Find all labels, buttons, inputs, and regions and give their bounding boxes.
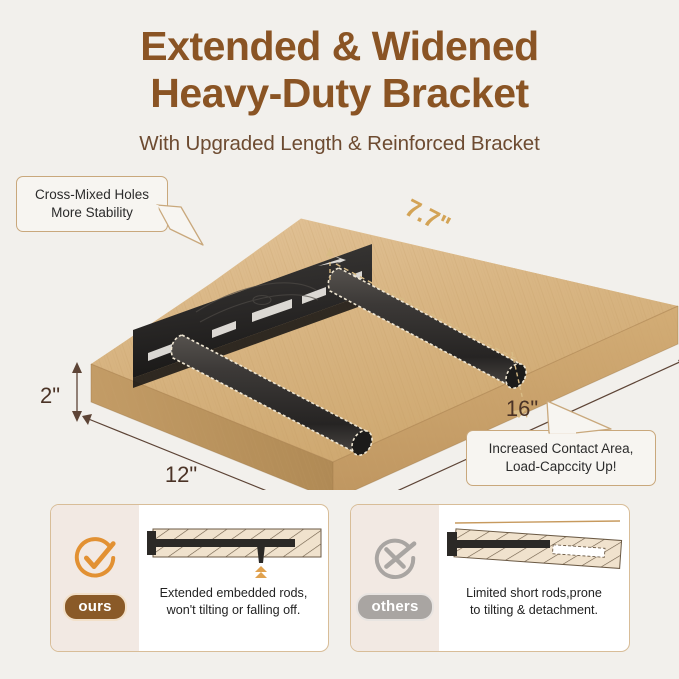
panel-others-caption: Limited short rods,prone to tilting & de… (460, 585, 608, 619)
callout-right-line1: Increased Contact Area, (477, 440, 645, 458)
callout-increased-contact-area: Increased Contact Area, Load-Capccity Up… (466, 430, 656, 486)
product-infographic: Extended & Widened Heavy-Duty Bracket Wi… (0, 0, 679, 679)
callout-left-line2: More Stability (27, 204, 157, 222)
comparison-panel-others: others (350, 504, 630, 652)
badge-ours: ours (63, 593, 126, 622)
comparison-section: ours (0, 498, 679, 663)
page-subtitle: With Upgraded Length & Reinforced Bracke… (0, 132, 679, 156)
dimension-rod-length-label: 7.7" (401, 194, 455, 240)
x-circle-icon (372, 535, 418, 581)
panel-ours-caption-line2: won't tilting or falling off. (160, 602, 308, 619)
panel-ours-caption: Extended embedded rods, won't tilting or… (154, 585, 314, 619)
callout-left-tail (157, 205, 207, 251)
comparison-panel-ours: ours (50, 504, 329, 652)
dimension-depth-label: 12" (165, 462, 197, 487)
page-title-line1: Extended & Widened (0, 26, 679, 68)
callout-left-line1: Cross-Mixed Holes (27, 186, 157, 204)
panel-others-content: Limited short rods,prone to tilting & de… (439, 505, 629, 651)
check-circle-icon (72, 535, 118, 581)
panel-ours-content: Extended embedded rods, won't tilting or… (139, 505, 328, 651)
dimension-width-label: 16" (506, 396, 538, 421)
diagram-ours (139, 519, 328, 579)
dimension-thickness (72, 362, 82, 422)
header-block: Extended & Widened Heavy-Duty Bracket Wi… (0, 26, 679, 156)
panel-others-caption-line1: Limited short rods,prone (466, 585, 602, 602)
page-title-line2: Heavy-Duty Bracket (0, 73, 679, 115)
panel-others-badge-column: others (351, 505, 439, 651)
callout-cross-mixed-holes: Cross-Mixed Holes More Stability (16, 176, 168, 232)
diagram-others (439, 519, 629, 579)
panel-others-caption-line2: to tilting & detachment. (466, 602, 602, 619)
callout-right-tail (545, 399, 617, 435)
panel-ours-badge-column: ours (51, 505, 139, 651)
badge-others: others (356, 593, 433, 622)
dimension-thickness-label: 2" (40, 383, 60, 408)
panel-ours-caption-line1: Extended embedded rods, (160, 585, 308, 602)
callout-right-line2: Load-Capccity Up! (477, 458, 645, 476)
